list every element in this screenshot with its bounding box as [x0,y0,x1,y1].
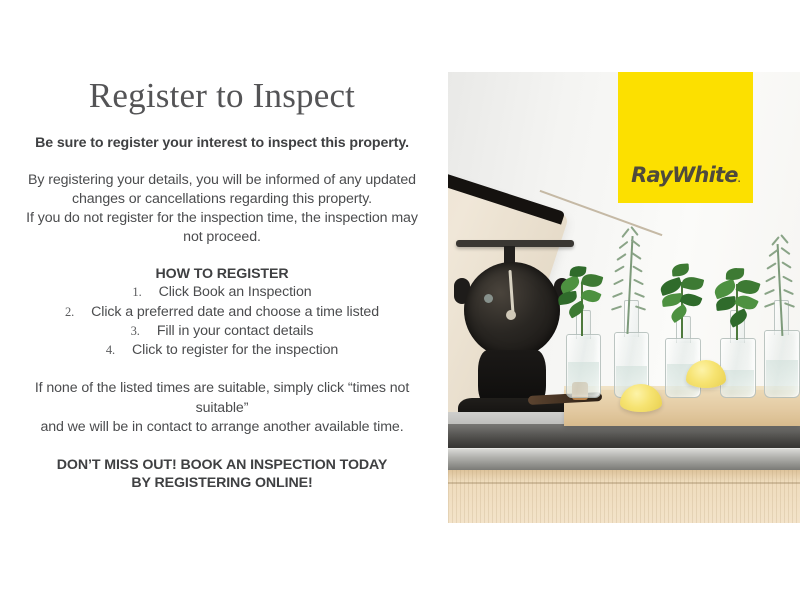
mint-leaf [672,263,690,276]
raywhite-logo-text: RayWhite. [618,163,753,187]
stainless-steel-counter-edge [448,448,800,471]
alternative-times-line-1: If none of the listed times are suitable… [8,379,436,398]
basil-leaf [735,277,760,297]
rosemary-needle [612,292,623,298]
closing-call-to-action-line-2: BY REGISTERING ONLINE! [8,474,436,492]
rosemary-needle [613,279,624,286]
glass-bottle [720,338,756,398]
list-item: 4.Click to register for the inspection [8,341,436,360]
intro-paragraph-line-4: not proceed. [8,228,436,247]
raywhite-logo-block: RayWhite. [618,72,753,203]
rosemary-needle [631,252,641,260]
rosemary-needle [611,305,622,310]
alternative-times-line-2: suitable” [8,399,436,418]
rosemary-needle [766,262,776,270]
steps-list: 1.Click Book an Inspection 2.Click a pre… [8,283,436,360]
rosemary-needle [783,289,794,295]
rosemary-needle [780,247,790,255]
intro-paragraph-line-2: changes or cancellations regarding this … [8,190,436,209]
slide-canvas: Register to Inspect Be sure to register … [0,0,800,600]
rosemary-needle [633,279,644,286]
glass-bottle [764,330,800,398]
property-photo: RayWhite. [448,72,800,523]
basil-leaf [580,287,601,305]
rosemary-needle [781,261,791,269]
rosemary-needle [619,241,629,249]
step-number: 3. [131,324,140,338]
rosemary-needle [632,265,643,272]
step-label: Click a preferred date and choose a time… [91,304,379,320]
rosemary-needle [614,265,625,272]
alternative-times-line-3: and we will be in contact to arrange ano… [8,418,436,437]
cabinet-seam [448,482,800,484]
spacer [8,247,436,266]
basil-leaf [726,268,744,281]
logo-word-ray: Ray [631,163,672,187]
text-column: Register to Inspect Be sure to register … [8,78,436,493]
intro-paragraph-line-3: If you do not register for the inspectio… [8,209,436,228]
wood-cabinet-front [448,470,800,523]
step-label: Click to register for the inspection [132,342,338,358]
step-label: Click Book an Inspection [159,284,312,300]
spacer [8,437,436,456]
mint-leaf [681,275,705,293]
intro-paragraph-line-1: By registering your details, you will be… [8,171,436,190]
rosemary-needle [765,276,776,283]
list-item: 3.Fill in your contact details [8,322,436,341]
logo-registered-mark: . [738,175,740,184]
page-title: Register to Inspect [8,78,436,115]
bottle-water [568,362,599,396]
bottle-water [766,360,798,396]
logo-word-white: White [672,163,738,187]
step-label: Fill in your contact details [157,323,313,339]
glass-bottle [566,334,601,398]
list-item: 2.Click a preferred date and choose a ti… [8,303,436,322]
rosemary-needle [621,228,629,238]
rosemary-needle [634,292,645,298]
lead-text: Be sure to register your interest to ins… [8,135,436,153]
step-number: 4. [106,343,115,357]
list-item: 1.Click Book an Inspection [8,283,436,302]
bottle-water [722,370,754,396]
spacer [8,360,436,379]
closing-call-to-action-line-1: DON’T MISS OUT! BOOK AN INSPECTION TODAY [8,456,436,474]
lemon-half [620,384,662,412]
rosemary-needle [630,226,638,236]
rosemary-needle [616,253,626,261]
rosemary-needle [764,289,775,295]
step-number: 2. [65,305,74,319]
rosemary-needle [782,276,793,283]
step-number: 1. [132,285,141,299]
rosemary-needle [780,234,789,244]
how-to-register-heading: HOW TO REGISTER [8,266,436,282]
